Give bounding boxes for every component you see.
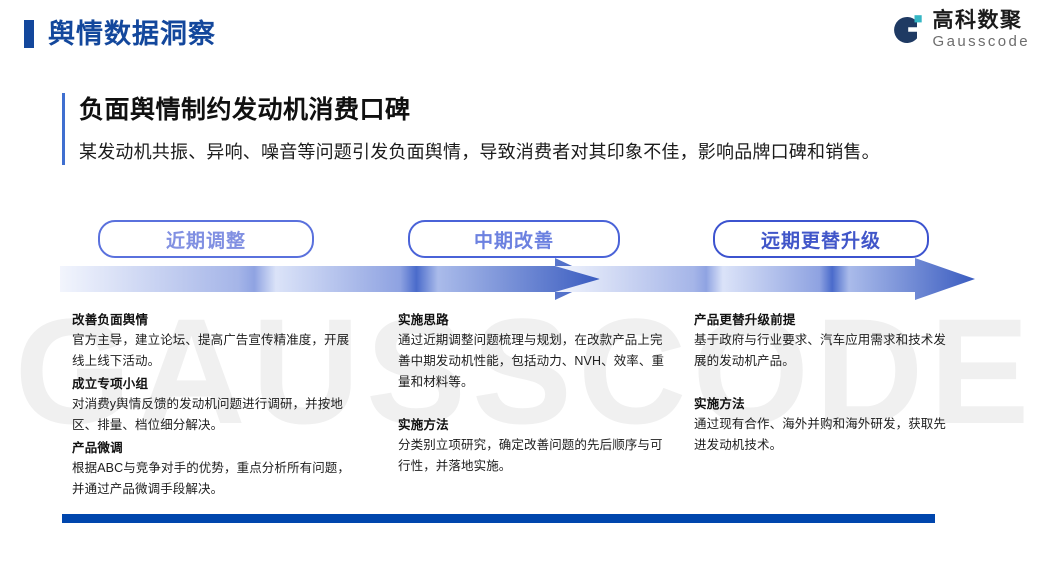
phase-pill-label: 远期更替升级 [761,226,881,253]
content-columns: 改善负面舆情 官方主导，建立论坛、提高广告宣传精准度，开展线上线下活动。 成立专… [0,310,1050,500]
content-block: 成立专项小组 对消费y舆情反馈的发动机问题进行调研，并按地区、排量、档位细分解决… [72,374,360,436]
column-mid-term: 实施思路 通过近期调整问题梳理与规划，在改款产品上完善中期发动机性能，包括动力、… [398,310,668,477]
footer-bar [62,514,935,523]
content-block-title: 实施思路 [398,310,668,330]
content-block: 产品微调 根据ABC与竞争对手的优势，重点分析所有问题，并通过产品微调手段解决。 [72,438,360,500]
content-block-title: 实施方法 [398,415,668,435]
content-block-body: 根据ABC与竞争对手的优势，重点分析所有问题，并通过产品微调手段解决。 [72,458,360,500]
title-block: 负面舆情制约发动机消费口碑 某发动机共振、异响、噪音等问题引发负面舆情，导致消费… [62,93,999,165]
content-block: 实施方法 通过现有合作、海外并购和海外研发，获取先进发动机技术。 [694,394,956,456]
phase-pill-mid-term[interactable]: 中期改善 [408,220,620,258]
content-block: 实施方法 分类别立项研究，确定改善问题的先后顺序与可行性，并落地实施。 [398,415,668,477]
phase-pill-row: 近期调整 中期改善 远期更替升级 [0,220,1050,260]
content-block-title: 产品微调 [72,438,360,458]
content-block-body: 官方主导，建立论坛、提高广告宣传精准度，开展线上线下活动。 [72,330,360,372]
timeline-arrow [60,258,983,300]
content-block-title: 改善负面舆情 [72,310,360,330]
content-block: 实施思路 通过近期调整问题梳理与规划，在改款产品上完善中期发动机性能，包括动力、… [398,310,668,393]
phase-pill-label: 近期调整 [166,226,246,253]
brand-logo: 高科数聚 Gausscode [888,10,1030,49]
page-header: 舆情数据洞察 高科数聚 Gausscode [0,0,1050,70]
content-block-title: 成立专项小组 [72,374,360,394]
content-block-body: 通过近期调整问题梳理与规划，在改款产品上完善中期发动机性能，包括动力、NVH、效… [398,330,668,393]
slide-headline: 负面舆情制约发动机消费口碑 [79,93,999,127]
content-block: 产品更替升级前提 基于政府与行业要求、汽车应用需求和技术发展的发动机产品。 [694,310,956,372]
page-title: 舆情数据洞察 [48,15,216,53]
content-block-body: 基于政府与行业要求、汽车应用需求和技术发展的发动机产品。 [694,330,956,372]
gausscode-logo-icon [888,12,924,48]
content-block: 改善负面舆情 官方主导，建立论坛、提高广告宣传精准度，开展线上线下活动。 [72,310,360,372]
brand-logo-text: 高科数聚 Gausscode [933,10,1030,49]
phase-pill-near-term[interactable]: 近期调整 [98,220,314,258]
content-block-title: 产品更替升级前提 [694,310,956,330]
brand-name-cn: 高科数聚 [933,10,1030,31]
content-block-title: 实施方法 [694,394,956,414]
phase-pill-long-term[interactable]: 远期更替升级 [713,220,929,258]
slide-subheadline: 某发动机共振、异响、噪音等问题引发负面舆情，导致消费者对其印象不佳，影响品牌口碑… [79,139,999,165]
header-bullet-icon [24,20,34,48]
content-block-body: 对消费y舆情反馈的发动机问题进行调研，并按地区、排量、档位细分解决。 [72,394,360,436]
brand-name-en: Gausscode [933,34,1030,49]
content-block-body: 分类别立项研究，确定改善问题的先后顺序与可行性，并落地实施。 [398,435,668,477]
column-long-term: 产品更替升级前提 基于政府与行业要求、汽车应用需求和技术发展的发动机产品。 实施… [694,310,956,456]
column-near-term: 改善负面舆情 官方主导，建立论坛、提高广告宣传精准度，开展线上线下活动。 成立专… [72,310,360,500]
content-block-body: 通过现有合作、海外并购和海外研发，获取先进发动机技术。 [694,414,956,456]
phase-pill-label: 中期改善 [474,226,554,253]
